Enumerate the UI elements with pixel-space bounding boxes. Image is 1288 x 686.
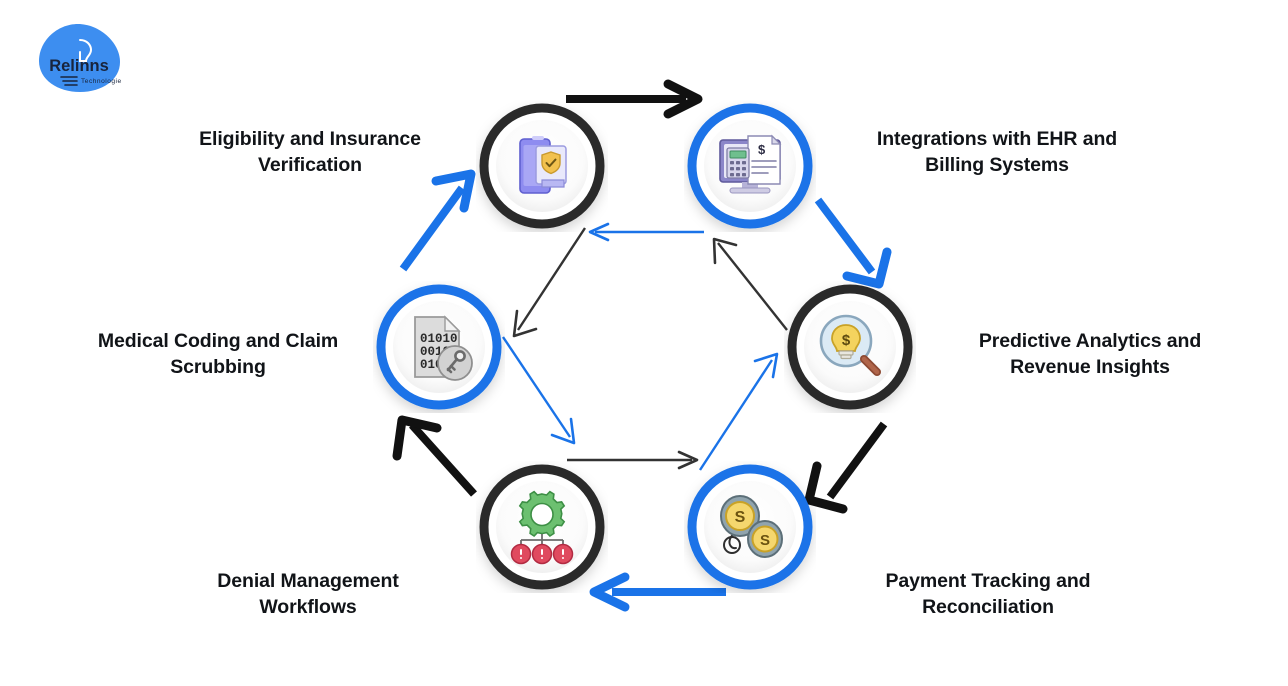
outer-arrow-analytics-to-payment <box>809 424 884 509</box>
inner-arrow-payment-to-analytics <box>700 354 777 470</box>
node-integrations[interactable]: $ <box>684 100 816 232</box>
coin-one-symbol: S <box>735 509 746 526</box>
bulb-currency-symbol: $ <box>842 332 851 349</box>
node-eligibility[interactable] <box>476 100 608 232</box>
logo-tagline: Technologies <box>81 78 122 85</box>
label-integrations: Integrations with EHR and Billing System… <box>832 126 1162 178</box>
node-analytics[interactable]: $ <box>784 281 916 413</box>
inner-arrow-coding-to-denial <box>503 337 574 443</box>
label-analytics: Predictive Analytics and Revenue Insight… <box>930 328 1250 380</box>
inner-arrow-analytics-to-integrations <box>714 239 787 330</box>
outer-arrow-coding-to-eligibility <box>403 174 471 269</box>
invoice-currency-symbol: $ <box>758 142 766 157</box>
logo-wordmark: Relinns <box>49 57 109 75</box>
inner-arrows-group <box>503 224 787 470</box>
inner-arrow-eligibility-to-coding <box>514 228 585 336</box>
outer-arrow-integrations-to-analytics <box>818 200 887 284</box>
brand-logo[interactable]: Relinns Technologies <box>36 22 122 94</box>
outer-arrow-denial-to-coding <box>397 420 474 494</box>
label-eligibility: Eligibility and Insurance Verification <box>150 126 470 178</box>
node-denial[interactable] <box>476 461 608 593</box>
node-payment[interactable]: S S <box>684 461 816 593</box>
alert-badges <box>512 545 573 564</box>
coin-two-symbol: S <box>760 532 770 549</box>
binary-line-1: 01010 <box>420 332 458 346</box>
label-payment: Payment Tracking and Reconciliation <box>828 568 1148 620</box>
label-coding: Medical Coding and Claim Scrubbing <box>58 328 378 380</box>
label-denial: Denial Management Workflows <box>148 568 468 620</box>
node-coding[interactable]: 01010 0010 010 <box>373 281 505 413</box>
